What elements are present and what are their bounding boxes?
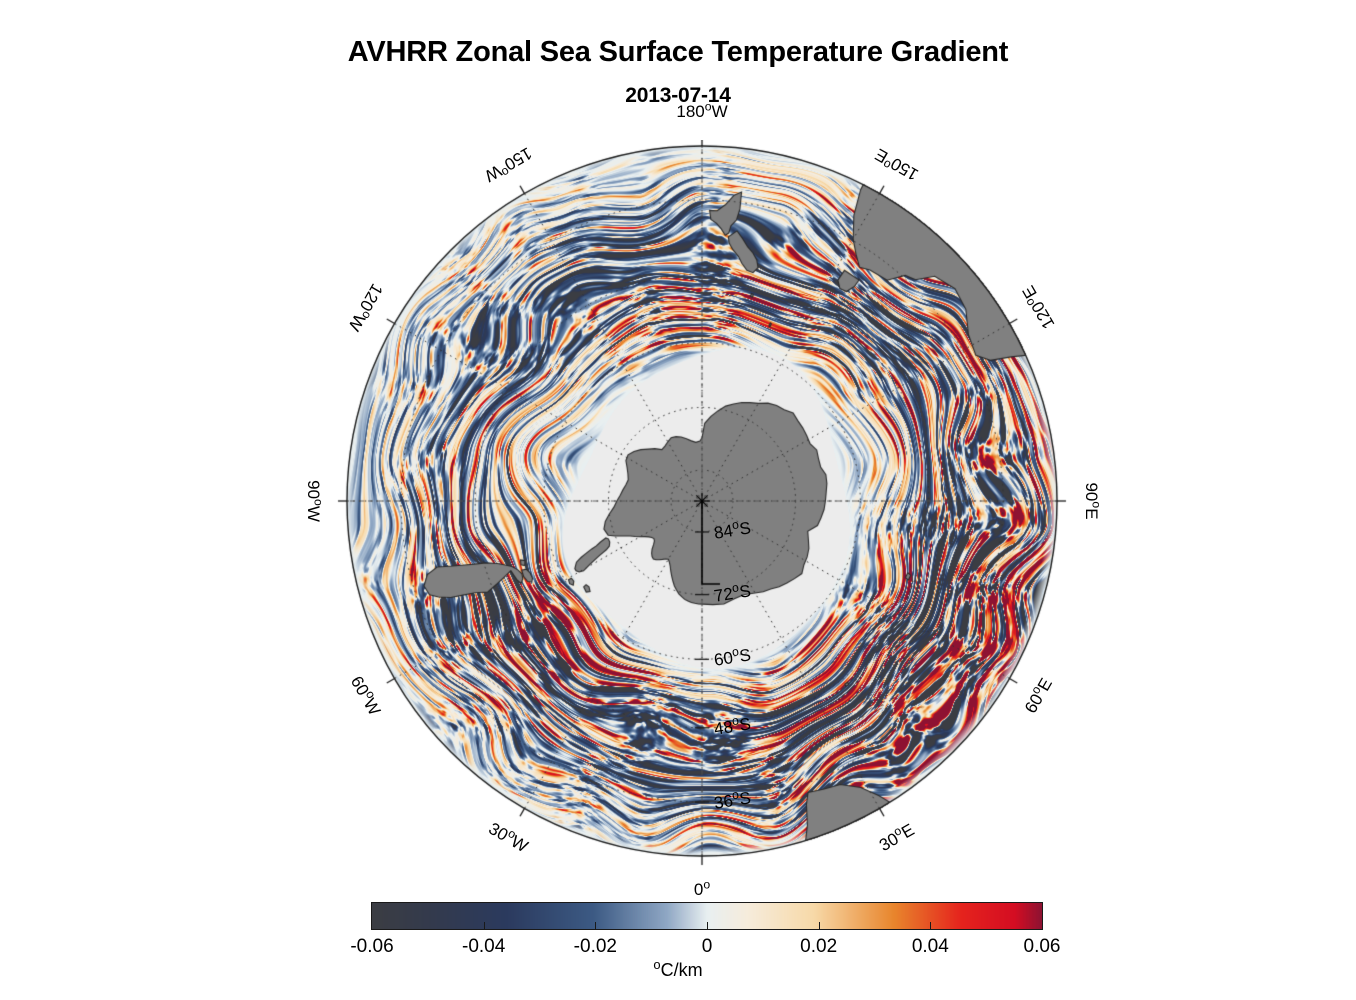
figure-canvas: AVHRR Zonal Sea Surface Temperature Grad… <box>0 0 1356 1000</box>
colorbar-tick-label: 0.02 <box>800 936 837 958</box>
colorbar-tick <box>930 922 931 930</box>
colorbar-tick-label: -0.02 <box>574 936 617 958</box>
colorbar-tick-label: -0.06 <box>350 936 393 958</box>
colorbar-tick <box>484 922 485 930</box>
longitude-label: 90oE <box>1081 482 1101 519</box>
colorbar-tick-label: 0.04 <box>912 936 949 958</box>
longitude-label: 90oW <box>303 480 323 522</box>
colorbar-tick <box>707 922 708 930</box>
page-title: AVHRR Zonal Sea Surface Temperature Grad… <box>0 36 1356 69</box>
colorbar-tick <box>819 922 820 930</box>
colorbar-tick-label: 0.06 <box>1024 936 1061 958</box>
colorbar-tick-label: 0 <box>702 936 713 958</box>
colorbar-tick <box>595 922 596 930</box>
subtitle: 2013-07-14 <box>0 84 1356 108</box>
colorbar-tick-label: -0.04 <box>462 936 505 958</box>
longitude-label: 0o <box>694 880 710 900</box>
colorbar-ticks <box>371 902 1043 912</box>
colorbar-unit-label: oC/km <box>0 960 1356 981</box>
map-raster <box>330 140 1080 870</box>
polar-map: 0o30oE60oE90oE120oE150oE180oW150oW120oW9… <box>330 140 1080 870</box>
